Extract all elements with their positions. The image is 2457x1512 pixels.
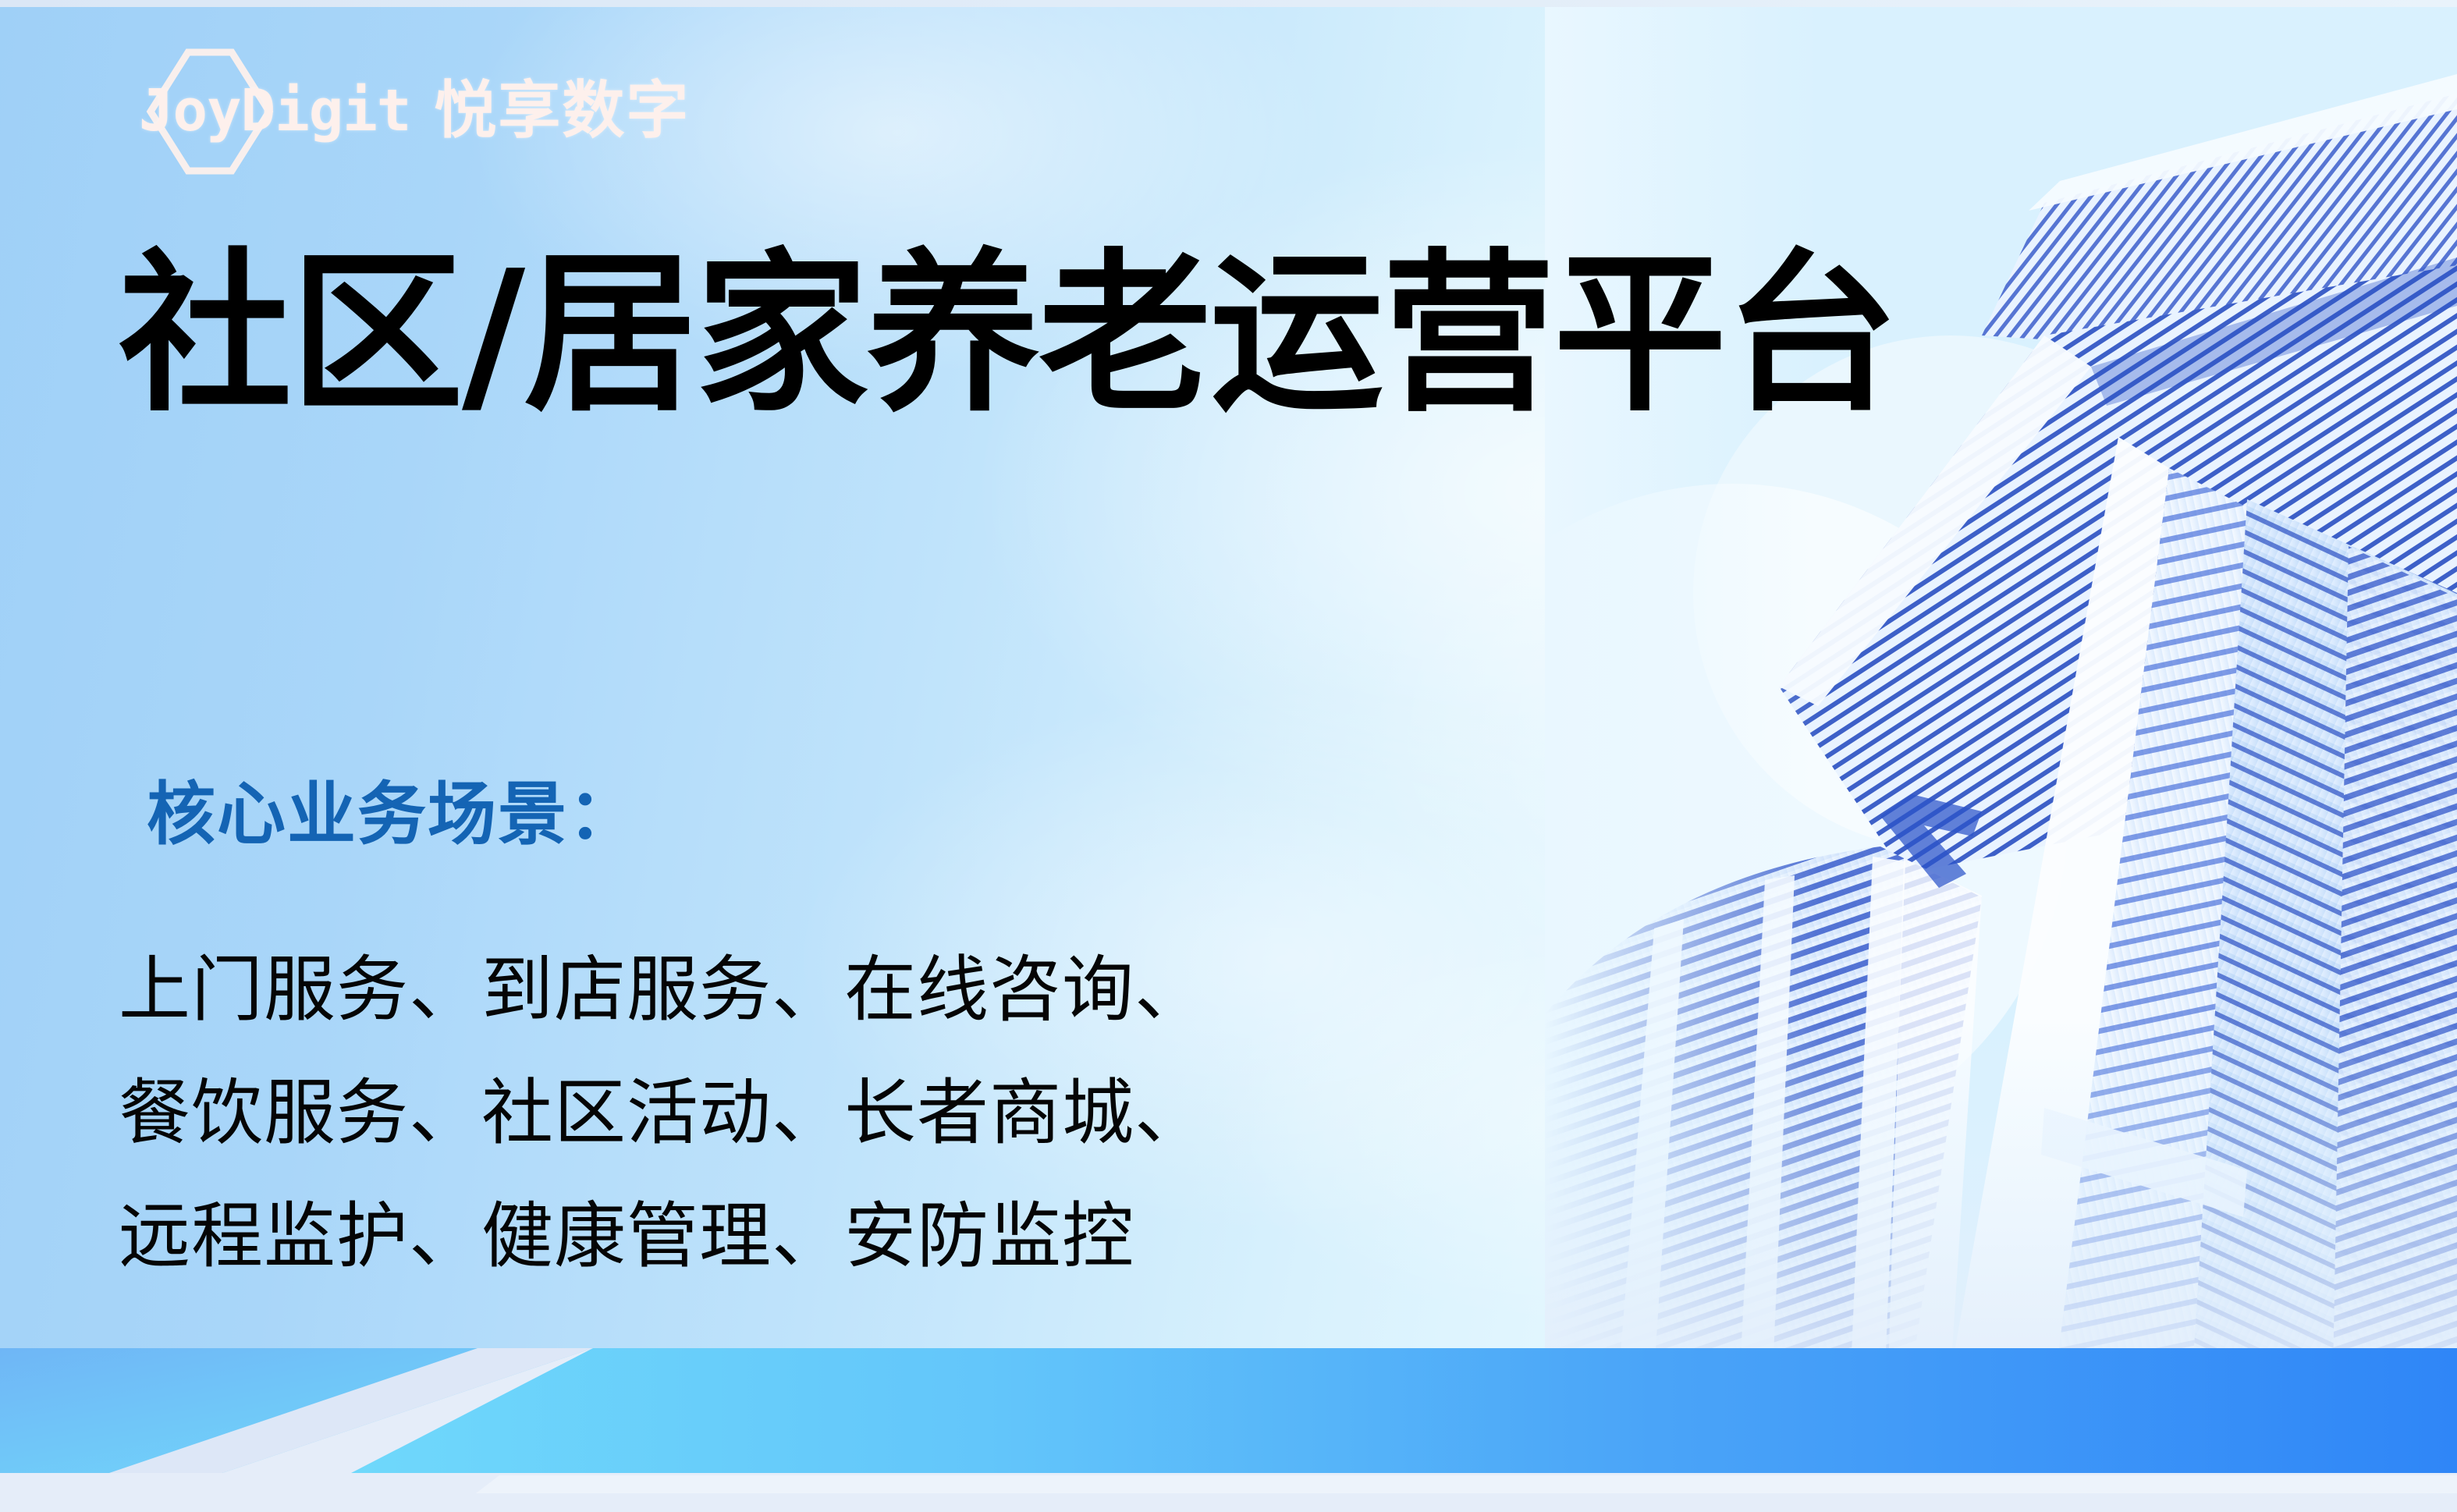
footer-decoration (0, 1348, 2457, 1512)
slide-canvas: JoyDigit 悦享数字 社区/居家养老运营平台 核心业务场景： 上门服务、到… (0, 0, 2457, 1512)
scene-line: 餐饮服务、社区活动、长者商城、 (119, 1052, 1207, 1175)
page-title: 社区/居家养老运营平台 (119, 248, 1897, 421)
brand-wordmark: JoyDigit (139, 82, 410, 140)
brand-name-cn: 悦享数字 (434, 80, 690, 142)
top-accent-strip (0, 0, 2457, 7)
brand-logo: JoyDigit 悦享数字 (139, 67, 690, 154)
scene-list: 上门服务、到店服务、在线咨询、 餐饮服务、社区活动、长者商城、 远程监护、健康管… (119, 928, 1207, 1299)
skyscraper-photo (1545, 0, 2457, 1373)
scene-line: 远程监护、健康管理、安防监控 (119, 1175, 1207, 1298)
scene-line: 上门服务、到店服务、在线咨询、 (119, 928, 1207, 1052)
section-label: 核心业务场景： (147, 780, 638, 849)
